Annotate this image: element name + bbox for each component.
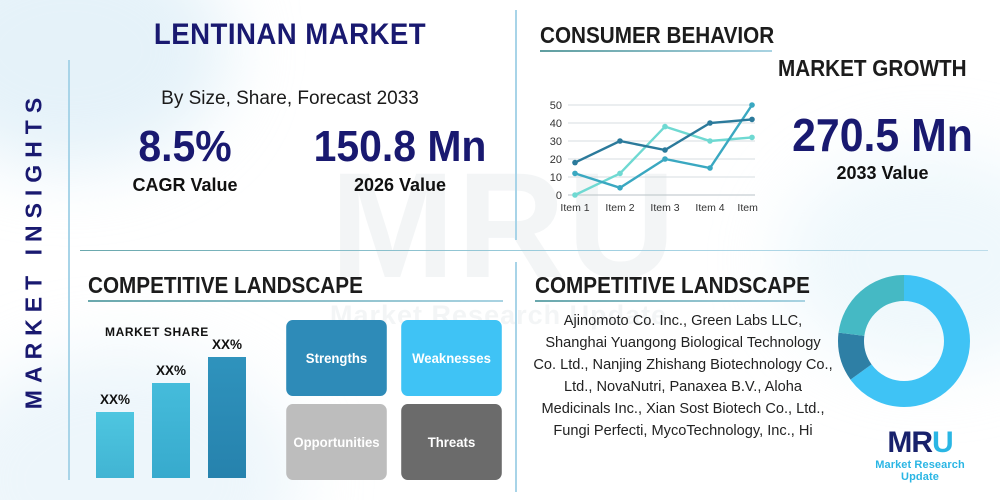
bar-2-label: XX%	[156, 363, 186, 378]
svg-text:20: 20	[550, 154, 562, 166]
stat-2026-caption: 2026 Value	[290, 175, 510, 196]
mru-logo-tagline: Market Research Update	[855, 459, 985, 483]
mru-logo: MRU Market Research Update	[855, 428, 985, 483]
svg-text:0: 0	[556, 190, 562, 202]
swot-weaknesses[interactable]: Weaknesses	[401, 320, 502, 396]
stat-cagr: 8.5% CAGR Value	[95, 122, 275, 196]
left-vertical-divider	[68, 60, 70, 480]
stat-2026-value: 150.8 Mn	[298, 122, 503, 172]
mru-logo-mark: MRU	[887, 428, 952, 458]
svg-text:Item 3: Item 3	[650, 202, 679, 214]
donut-chart-svg	[838, 275, 970, 407]
swot-strengths-label: Strengths	[306, 350, 367, 366]
market-share-bar-chart: XX% XX% XX%	[90, 318, 270, 483]
swot-threats[interactable]: Threats	[401, 404, 502, 480]
svg-text:Item 4: Item 4	[695, 202, 724, 214]
heading-competitive-landscape-left: COMPETITIVE LANDSCAPE	[88, 272, 363, 299]
svg-text:Item 1: Item 1	[560, 202, 589, 214]
consumer-behavior-line-chart: 50 40 30 20 10 0	[530, 95, 760, 217]
vertical-divider-top	[515, 10, 517, 240]
heading-competitive-landscape-left-underline	[88, 300, 503, 302]
bar-2	[152, 383, 190, 478]
horizontal-divider	[80, 250, 988, 251]
mru-logo-mark-accent: U	[932, 426, 953, 459]
stat-2026: 150.8 Mn 2026 Value	[290, 122, 510, 196]
heading-competitive-landscape-right: COMPETITIVE LANDSCAPE	[535, 272, 810, 299]
mru-logo-mark-main: MR	[887, 426, 932, 459]
bar-1-label: XX%	[100, 392, 130, 407]
line-chart-xtick-labels: Item 1 Item 2 Item 3 Item 4 Item 5	[560, 202, 760, 214]
svg-text:30: 30	[550, 136, 562, 148]
svg-text:50: 50	[550, 100, 562, 112]
svg-text:10: 10	[550, 172, 562, 184]
svg-text:40: 40	[550, 118, 562, 130]
stat-2033-value: 270.5 Mn	[778, 110, 987, 160]
line-series-2	[575, 105, 752, 188]
market-share-donut-chart	[838, 275, 970, 407]
vertical-divider-bottom	[515, 262, 517, 492]
stat-cagr-caption: CAGR Value	[95, 175, 275, 196]
swot-weaknesses-label: Weaknesses	[412, 350, 491, 366]
stat-2033: 270.5 Mn 2033 Value	[770, 110, 995, 184]
bar-1	[96, 412, 134, 478]
heading-competitive-landscape-right-underline	[535, 300, 805, 302]
heading-market-growth: MARKET GROWTH	[778, 55, 967, 82]
side-banner: MARKET INSIGHTS	[0, 0, 68, 500]
stat-cagr-value: 8.5%	[101, 122, 268, 172]
svg-text:Item 5: Item 5	[737, 202, 760, 214]
svg-text:Item 2: Item 2	[605, 202, 634, 214]
bar-chart-svg: XX% XX% XX%	[90, 318, 270, 483]
bar-3-label: XX%	[212, 337, 242, 352]
infographic-root: MRU Market Research Update MARKET INSIGH…	[0, 0, 1000, 500]
swot-strengths[interactable]: Strengths	[286, 320, 387, 396]
swot-grid: Strengths Weaknesses Opportunities Threa…	[283, 320, 505, 480]
page-title: LENTINAN MARKET	[97, 18, 483, 52]
line-chart-svg: 50 40 30 20 10 0	[530, 95, 760, 217]
competitors-list: Ajinomoto Co. Inc., Green Labs LLC, Shan…	[533, 310, 833, 442]
bar-3	[208, 357, 246, 478]
heading-consumer-behavior: CONSUMER BEHAVIOR	[540, 22, 774, 49]
side-banner-label: MARKET INSIGHTS	[21, 91, 48, 409]
line-chart-ytick-labels: 50 40 30 20 10 0	[550, 100, 562, 202]
swot-threats-label: Threats	[428, 434, 476, 450]
heading-consumer-behavior-underline	[540, 50, 772, 52]
stat-2033-caption: 2033 Value	[770, 163, 995, 184]
swot-opportunities[interactable]: Opportunities	[286, 404, 387, 480]
swot-opportunities-label: Opportunities	[293, 434, 379, 450]
page-subtitle: By Size, Share, Forecast 2033	[80, 88, 500, 110]
